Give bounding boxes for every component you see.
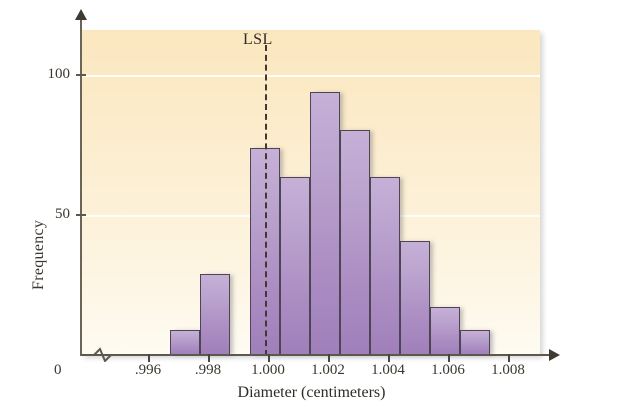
y-tick-label-100: 100 <box>30 66 70 83</box>
origin-label: 0 <box>54 362 62 379</box>
x-tick-1 <box>208 354 210 362</box>
x-tick-label-1: .998 <box>178 362 238 379</box>
y-tick-50 <box>76 214 86 216</box>
x-tick-5 <box>448 354 450 362</box>
x-tick-label-5: 1.006 <box>418 362 478 379</box>
bar-4 <box>310 92 340 356</box>
x-axis-title: Diameter (centimeters) <box>0 384 623 402</box>
gridline-100 <box>81 75 540 77</box>
x-tick-3 <box>328 354 330 362</box>
x-tick-6 <box>508 354 510 362</box>
x-tick-label-0: .996 <box>118 362 178 379</box>
x-tick-label-6: 1.008 <box>478 362 538 379</box>
x-tick-4 <box>388 354 390 362</box>
x-tick-2 <box>268 354 270 362</box>
lsl-label: LSL <box>243 31 273 49</box>
x-tick-label-4: 1.004 <box>358 362 418 379</box>
bar-5 <box>340 130 370 356</box>
y-axis-line <box>80 17 82 356</box>
x-tick-label-3: 1.002 <box>298 362 358 379</box>
x-tick-0 <box>148 354 150 362</box>
x-axis-arrow-icon <box>549 349 560 361</box>
y-axis-arrow-icon <box>75 9 87 20</box>
bar-7 <box>400 241 430 356</box>
axis-break-icon <box>92 346 118 362</box>
x-axis-line <box>81 354 553 356</box>
histogram-figure: LSL 100 50 Frequency .996 .998 1.000 1.0… <box>0 0 623 409</box>
bar-1 <box>200 274 230 356</box>
y-tick-100 <box>76 74 86 76</box>
bar-0 <box>170 330 200 356</box>
lsl-spec-line <box>265 45 267 356</box>
bar-9 <box>460 330 490 356</box>
bar-3 <box>280 177 310 356</box>
x-tick-label-2: 1.000 <box>238 362 298 379</box>
y-axis-title: Frequency <box>30 220 48 290</box>
bar-6 <box>370 177 400 356</box>
bar-8 <box>430 307 460 356</box>
